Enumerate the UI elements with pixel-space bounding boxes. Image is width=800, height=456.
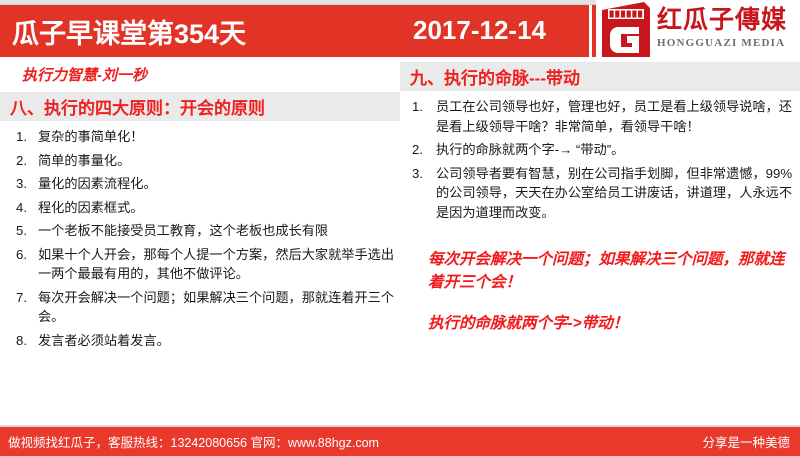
list-item-text: 发言者必须站着发言。 — [38, 333, 170, 348]
right-points-list: 1. 员工在公司领导也好，管理也好，员工是看上级领导说啥，还是看上级领导干啥？非… — [400, 97, 800, 222]
list-item-number: 1. — [412, 97, 432, 117]
list-item: 1. 复杂的事简单化！ — [0, 127, 400, 147]
list-item-text: 一个老板不能接受员工教育，这个老板也成长有限 — [38, 223, 328, 238]
page-title: 瓜子早课堂第354天 — [12, 12, 246, 51]
course-subtitle: 执行力智慧-刘一秒 — [22, 64, 400, 85]
list-item-text: 程化的因素框式。 — [38, 200, 144, 215]
callout-text-2: 执行的命脉就两个字->带动！ — [428, 312, 786, 335]
list-item: 1. 员工在公司领导也好，管理也好，员工是看上级领导说啥，还是看上级领导干啥？非… — [400, 97, 800, 136]
film-book-g-icon — [598, 0, 653, 57]
list-item-number: 7. — [16, 288, 36, 308]
right-heading-text: 九、执行的命脉---带动 — [410, 64, 580, 89]
list-item-number: 5. — [16, 221, 36, 241]
list-item-text: 量化的因素流程化。 — [38, 176, 157, 191]
footer-contact-text: 做视频找红瓜子，客服热线：13242080656 官网：www.88hgz.co… — [8, 432, 379, 451]
list-item-text: 公司领导者要有智慧，别在公司指手划脚，但非常遗憾，99%的公司领导，天天在办公室… — [436, 166, 792, 220]
right-section-heading: 九、执行的命脉---带动 — [400, 62, 800, 91]
list-item: 3. 公司领导者要有智慧，别在公司指手划脚，但非常遗憾，99%的公司领导，天天在… — [400, 164, 800, 223]
list-item: 2. 简单的事量化。 — [0, 151, 400, 171]
list-item: 6. 如果十个人开会，那每个人提一个方案，然后大家就举手选出一两个最最有用的，其… — [0, 245, 400, 284]
list-item-text: 员工在公司领导也好，管理也好，员工是看上级领导说啥，还是看上级领导干啥？非常简单… — [436, 99, 792, 134]
list-item-text: 执行的命脉就两个字-→ “带动”。 — [436, 142, 624, 157]
list-item: 3. 量化的因素流程化。 — [0, 174, 400, 194]
list-item: 2. 执行的命脉就两个字-→ “带动”。 — [400, 140, 800, 160]
list-item-text: 简单的事量化。 — [38, 153, 130, 168]
list-item-number: 2. — [412, 140, 432, 160]
list-item: 7. 每次开会解决一个问题；如果解决三个问题，那就连着开三个会。 — [0, 288, 400, 327]
footer-slogan-text: 分享是一种美德 — [702, 432, 790, 451]
list-item-number: 3. — [412, 164, 432, 184]
left-heading-text: 八、执行的四大原则：开会的原则 — [10, 94, 265, 119]
slide-canvas: 瓜子早课堂第354天 2017-12-14 红瓜子傳媒 HONGGUAZI ME… — [0, 0, 800, 456]
list-item-number: 1. — [16, 127, 36, 147]
slide-footer: 做视频找红瓜子，客服热线：13242080656 官网：www.88hgz.co… — [0, 427, 800, 456]
header-date: 2017-12-14 — [413, 15, 546, 46]
left-column: 执行力智慧-刘一秒 八、执行的四大原则：开会的原则 1. 复杂的事简单化！ 2.… — [0, 57, 400, 425]
callout-text-1: 每次开会解决一个问题；如果解决三个问题，那就连着开三个会！ — [428, 248, 786, 294]
list-item: 5. 一个老板不能接受员工教育，这个老板也成长有限 — [0, 221, 400, 241]
brand-logo: 红瓜子傳媒 HONGGUAZI MEDIA — [596, 0, 800, 57]
list-item-text: 复杂的事简单化！ — [38, 129, 144, 144]
list-item-text: 如果十个人开会，那每个人提一个方案，然后大家就举手选出一两个最最有用的，其他不做… — [38, 247, 394, 282]
left-section-heading: 八、执行的四大原则：开会的原则 — [0, 92, 400, 121]
logo-text-block: 红瓜子傳媒 HONGGUAZI MEDIA — [657, 0, 787, 50]
logo-english-name: HONGGUAZI MEDIA — [657, 36, 787, 50]
list-item-number: 3. — [16, 174, 36, 194]
list-item-number: 6. — [16, 245, 36, 265]
list-item: 8. 发言者必须站着发言。 — [0, 331, 400, 351]
list-item-number: 4. — [16, 198, 36, 218]
right-column: 九、执行的命脉---带动 1. 员工在公司领导也好，管理也好，员工是看上级领导说… — [400, 57, 800, 425]
logo-chinese-name: 红瓜子傳媒 — [657, 5, 787, 35]
left-points-list: 1. 复杂的事简单化！ 2. 简单的事量化。 3. 量化的因素流程化。 4. 程… — [0, 127, 400, 350]
list-item-number: 2. — [16, 151, 36, 171]
list-item: 4. 程化的因素框式。 — [0, 198, 400, 218]
header-divider — [589, 5, 592, 57]
list-item-text: 每次开会解决一个问题；如果解决三个问题，那就连着开三个会。 — [38, 290, 394, 325]
list-item-number: 8. — [16, 331, 36, 351]
